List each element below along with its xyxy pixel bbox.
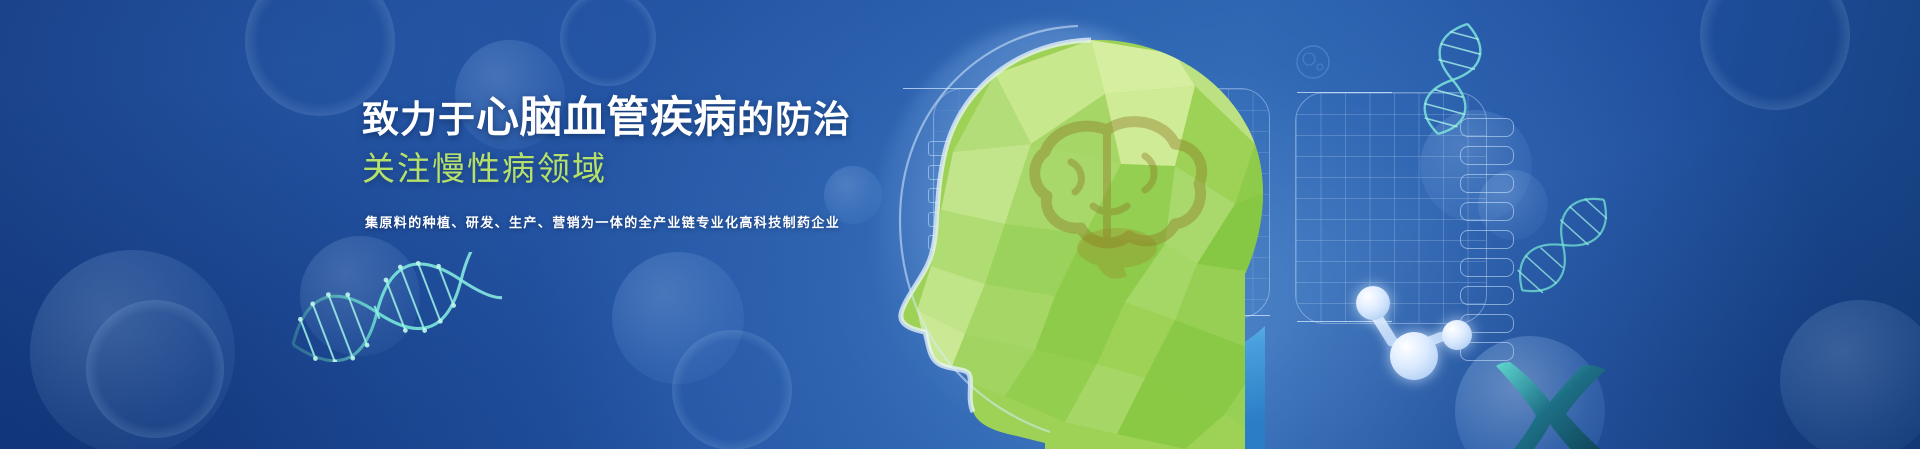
page-tagline: 集原料的种植、研发、生产、营销为一体的全产业链专业化高科技制药企业 [365, 214, 1002, 232]
hud-row [1460, 174, 1514, 193]
headline-prefix: 致力于 [362, 99, 476, 140]
hud-row [1460, 230, 1514, 249]
hud-row [1460, 258, 1514, 277]
hud-row [1460, 118, 1514, 137]
banner-copy: 致力于心脑血管疾病的防治 关注慢性病领域 集原料的种植、研发、生产、营销为一体的… [362, 96, 1002, 232]
headline-emphasis: 心脑血管疾病 [476, 94, 737, 142]
hero-banner: 致力于心脑血管疾病的防治 关注慢性病领域 集原料的种植、研发、生产、营销为一体的… [0, 0, 1920, 449]
headline-suffix: 的防治 [737, 99, 851, 140]
hud-row [1460, 314, 1514, 333]
hud-row [1460, 202, 1514, 221]
hud-row [1460, 146, 1514, 165]
hud-row [1460, 286, 1514, 305]
page-title: 致力于心脑血管疾病的防治 [362, 96, 1002, 142]
hud-row-list-right [1460, 118, 1514, 361]
page-subtitle: 关注慢性病领域 [362, 151, 1002, 187]
